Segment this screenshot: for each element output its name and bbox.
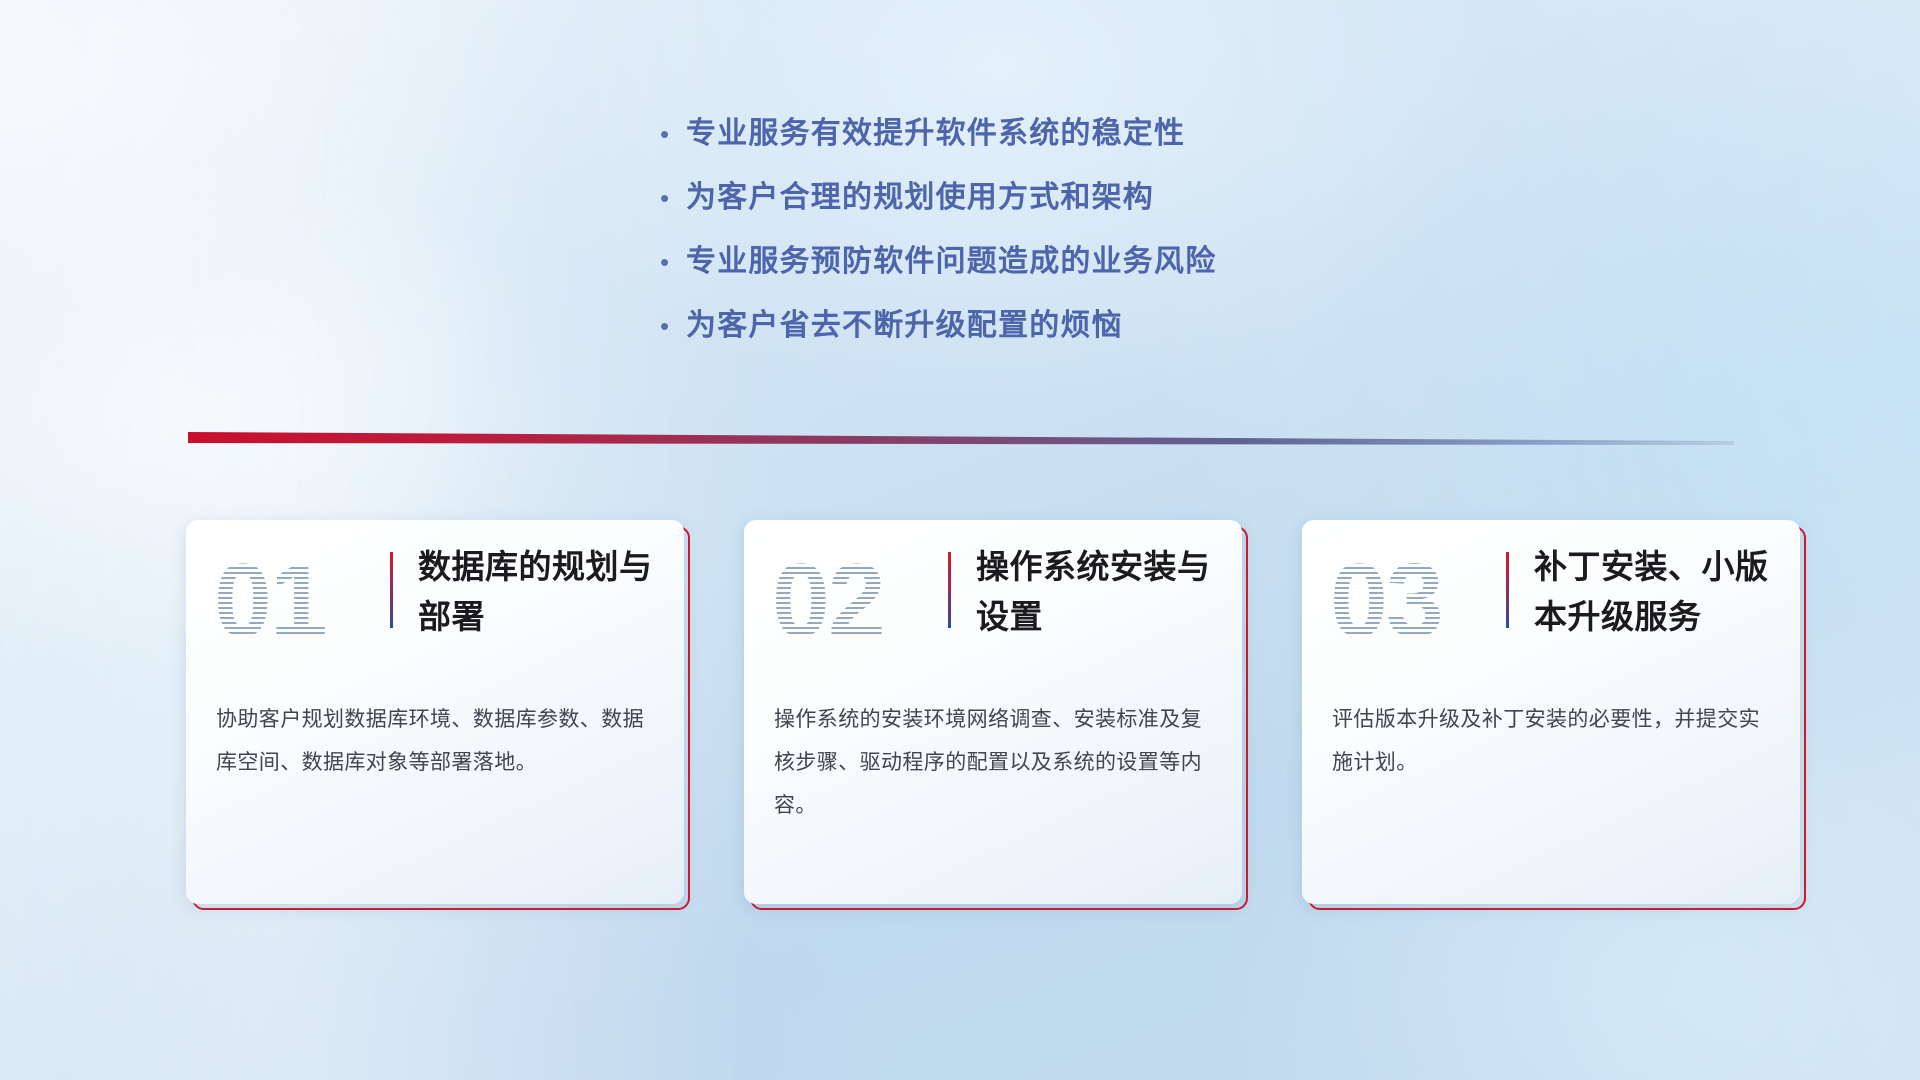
bullet-list: • 专业服务有效提升软件系统的稳定性 • 为客户合理的规划使用方式和架构 • 专… xyxy=(660,108,1420,364)
bullet-item-label: 为客户合理的规划使用方式和架构 xyxy=(686,172,1154,216)
card-divider-bar xyxy=(1506,552,1509,628)
card-divider-bar xyxy=(390,552,393,628)
card-surface: 01 数据库的规划与部署 协助客户规划数据库环境、数据库参数、数据库空间、数据库… xyxy=(186,520,684,904)
card-title: 补丁安装、小版本升级服务 xyxy=(1534,542,1784,642)
bullet-item-label: 专业服务预防软件问题造成的业务风险 xyxy=(686,236,1216,280)
card-surface: 02 操作系统安装与设置 操作系统的安装环境网络调查、安装标准及复核步骤、驱动程… xyxy=(744,520,1242,904)
card-description: 操作系统的安装环境网络调查、安装标准及复核步骤、驱动程序的配置以及系统的设置等内… xyxy=(774,698,1214,827)
bullet-dot-icon: • xyxy=(660,313,686,339)
card-header: 03 补丁安装、小版本升级服务 xyxy=(1302,520,1800,696)
card-divider-bar xyxy=(948,552,951,628)
bullet-item: • 专业服务有效提升软件系统的稳定性 xyxy=(660,108,1420,172)
bullet-dot-icon: • xyxy=(660,121,686,147)
card-number: 02 xyxy=(772,542,922,660)
slide-canvas: • 专业服务有效提升软件系统的稳定性 • 为客户合理的规划使用方式和架构 • 专… xyxy=(0,0,1920,1080)
bullet-dot-icon: • xyxy=(660,249,686,275)
bullet-dot-icon: • xyxy=(660,185,686,211)
feature-card-row: 01 数据库的规划与部署 协助客户规划数据库环境、数据库参数、数据库空间、数据库… xyxy=(186,520,1806,916)
card-surface: 03 补丁安装、小版本升级服务 评估版本升级及补丁安装的必要性，并提交实施计划。 xyxy=(1302,520,1800,904)
card-title: 数据库的规划与部署 xyxy=(418,542,668,642)
card-number: 01 xyxy=(214,542,364,660)
bullet-item-label: 为客户省去不断升级配置的烦恼 xyxy=(686,300,1123,344)
card-header: 01 数据库的规划与部署 xyxy=(186,520,684,696)
card-title: 操作系统安装与设置 xyxy=(976,542,1226,642)
feature-card[interactable]: 02 操作系统安装与设置 操作系统的安装环境网络调查、安装标准及复核步骤、驱动程… xyxy=(744,520,1246,908)
card-number: 03 xyxy=(1330,542,1480,660)
bullet-item: • 专业服务预防软件问题造成的业务风险 xyxy=(660,236,1420,300)
card-description: 协助客户规划数据库环境、数据库参数、数据库空间、数据库对象等部署落地。 xyxy=(216,698,656,784)
feature-card[interactable]: 03 补丁安装、小版本升级服务 评估版本升级及补丁安装的必要性，并提交实施计划。 xyxy=(1302,520,1804,908)
card-header: 02 操作系统安装与设置 xyxy=(744,520,1242,696)
bullet-item: • 为客户省去不断升级配置的烦恼 xyxy=(660,300,1420,364)
feature-card[interactable]: 01 数据库的规划与部署 协助客户规划数据库环境、数据库参数、数据库空间、数据库… xyxy=(186,520,688,908)
card-description: 评估版本升级及补丁安装的必要性，并提交实施计划。 xyxy=(1332,698,1772,784)
bullet-item: • 为客户合理的规划使用方式和架构 xyxy=(660,172,1420,236)
section-divider xyxy=(188,432,1734,445)
bullet-item-label: 专业服务有效提升软件系统的稳定性 xyxy=(686,108,1185,152)
